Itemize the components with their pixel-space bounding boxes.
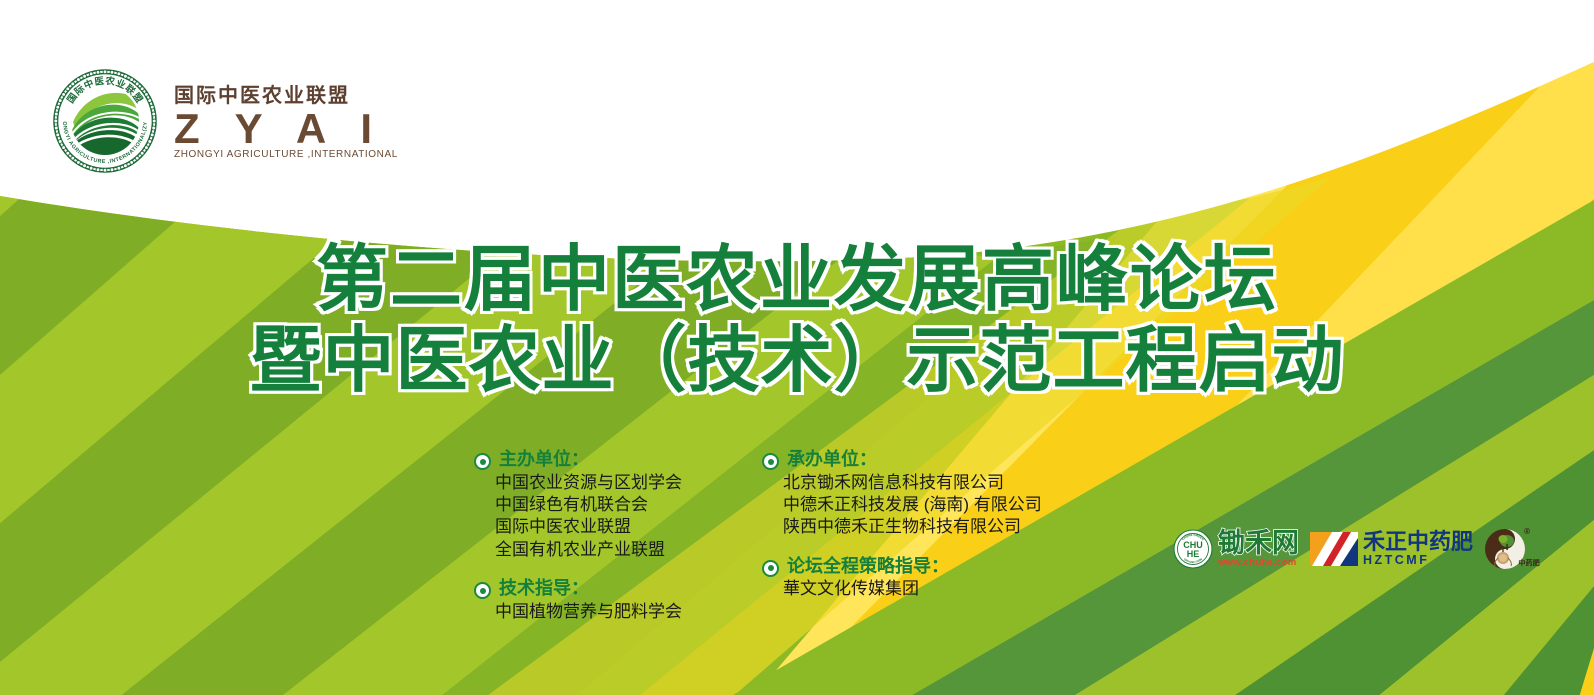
round-emblem-sub-label: 中药肥 [1518, 558, 1540, 568]
hz-name-cn: 禾正中药肥 [1363, 531, 1473, 553]
registered-mark: ® [1524, 527, 1530, 536]
hz-name-en: HZTCMF [1363, 554, 1473, 567]
info-list-organizer: 北京锄禾网信息科技有限公司 中德禾正科技发展 (海南) 有限公司 陕西中德禾正生… [762, 472, 1020, 539]
bullet-icon [762, 453, 779, 470]
chuhe-name-cn: 锄禾网 [1218, 530, 1299, 557]
info-head: 论坛全程策略指导： [762, 555, 1020, 578]
info-head: 承办单位： [762, 448, 1020, 471]
bullet-icon [474, 453, 491, 470]
list-item: 華文文化传媒集团 [783, 578, 1020, 600]
svg-text:HE: HE [1187, 549, 1200, 559]
info-head: 技术指导： [474, 577, 732, 600]
info-label-strategy-guidance: 论坛全程策略指导： [787, 555, 949, 578]
org-acronym-zyai: Z Y A I [174, 109, 398, 149]
logo-wordmark: 国际中医农业联盟 Z Y A I ZHONGYI AGRICULTURE ,IN… [174, 82, 398, 161]
list-item: 国际中医农业联盟 [495, 516, 732, 538]
info-group-strategy-guidance: 论坛全程策略指导： 華文文化传媒集团 [762, 555, 1020, 601]
info-group-organizer: 承办单位： 北京锄禾网信息科技有限公司 中德禾正科技发展 (海南) 有限公司 陕… [762, 448, 1020, 539]
sponsor-logo-round-emblem: ® 中药肥 [1484, 528, 1526, 570]
org-name-en: ZHONGYI AGRICULTURE ,INTERNATIONAL [174, 150, 398, 160]
circular-seal-icon: 国际中医农业联盟 ZHONGYI AGRICULTURE ,INTERNATIO… [50, 66, 160, 176]
info-head: 主办单位： [474, 448, 732, 471]
info-column-left: 主办单位： 中国农业资源与区划学会 中国绿色有机联合会 国际中医农业联盟 全国有… [474, 448, 732, 639]
list-item: 中德禾正科技发展 (海南) 有限公司 [783, 494, 1020, 516]
info-group-host: 主办单位： 中国农业资源与区划学会 中国绿色有机联合会 国际中医农业联盟 全国有… [474, 448, 732, 561]
hz-slash-mark-icon [1310, 532, 1358, 566]
chuhe-circular-seal-icon: CHU HE CHUHE GREEN ORGANIC FARM [1173, 529, 1213, 569]
info-list-host: 中国农业资源与区划学会 中国绿色有机联合会 国际中医农业联盟 全国有机农业产业联… [474, 472, 732, 562]
chuhe-url: www.chuhe.com [1218, 558, 1299, 568]
list-item: 陕西中德禾正生物科技有限公司 [783, 516, 1020, 538]
bullet-icon [762, 560, 779, 577]
list-item: 中国农业资源与区划学会 [495, 472, 732, 494]
sponsor-logo-chuhe: CHU HE CHUHE GREEN ORGANIC FARM 锄禾网 www.… [1173, 529, 1299, 569]
info-label-technical-guidance: 技术指导： [499, 577, 589, 600]
hz-wordmark: 禾正中药肥 HZTCMF [1363, 531, 1473, 567]
list-item: 全国有机农业产业联盟 [495, 539, 732, 561]
list-item: 中国绿色有机联合会 [495, 494, 732, 516]
sponsor-logo-hztcmf: 禾正中药肥 HZTCMF [1310, 531, 1473, 567]
list-item: 中国植物营养与肥料学会 [495, 601, 732, 623]
organizer-info: 主办单位： 中国农业资源与区划学会 中国绿色有机联合会 国际中医农业联盟 全国有… [474, 448, 1020, 639]
org-name-cn: 国际中医农业联盟 [174, 86, 398, 106]
chuhe-wordmark: 锄禾网 www.chuhe.com [1218, 530, 1299, 568]
event-banner: 国际中医农业联盟 ZHONGYI AGRICULTURE ,INTERNATIO… [0, 0, 1594, 695]
bullet-icon [474, 582, 491, 599]
info-column-right: 承办单位： 北京锄禾网信息科技有限公司 中德禾正科技发展 (海南) 有限公司 陕… [762, 448, 1020, 639]
info-list-strategy-guidance: 華文文化传媒集团 [762, 578, 1020, 600]
info-group-technical-guidance: 技术指导： 中国植物营养与肥料学会 [474, 577, 732, 623]
organization-logo-lockup: 国际中医农业联盟 ZHONGYI AGRICULTURE ,INTERNATIO… [50, 66, 398, 176]
sponsor-logo-row: CHU HE CHUHE GREEN ORGANIC FARM 锄禾网 www.… [1173, 528, 1526, 570]
info-list-technical-guidance: 中国植物营养与肥料学会 [474, 601, 732, 623]
info-label-organizer: 承办单位： [787, 448, 877, 471]
info-label-host: 主办单位： [499, 448, 589, 471]
list-item: 北京锄禾网信息科技有限公司 [783, 472, 1020, 494]
